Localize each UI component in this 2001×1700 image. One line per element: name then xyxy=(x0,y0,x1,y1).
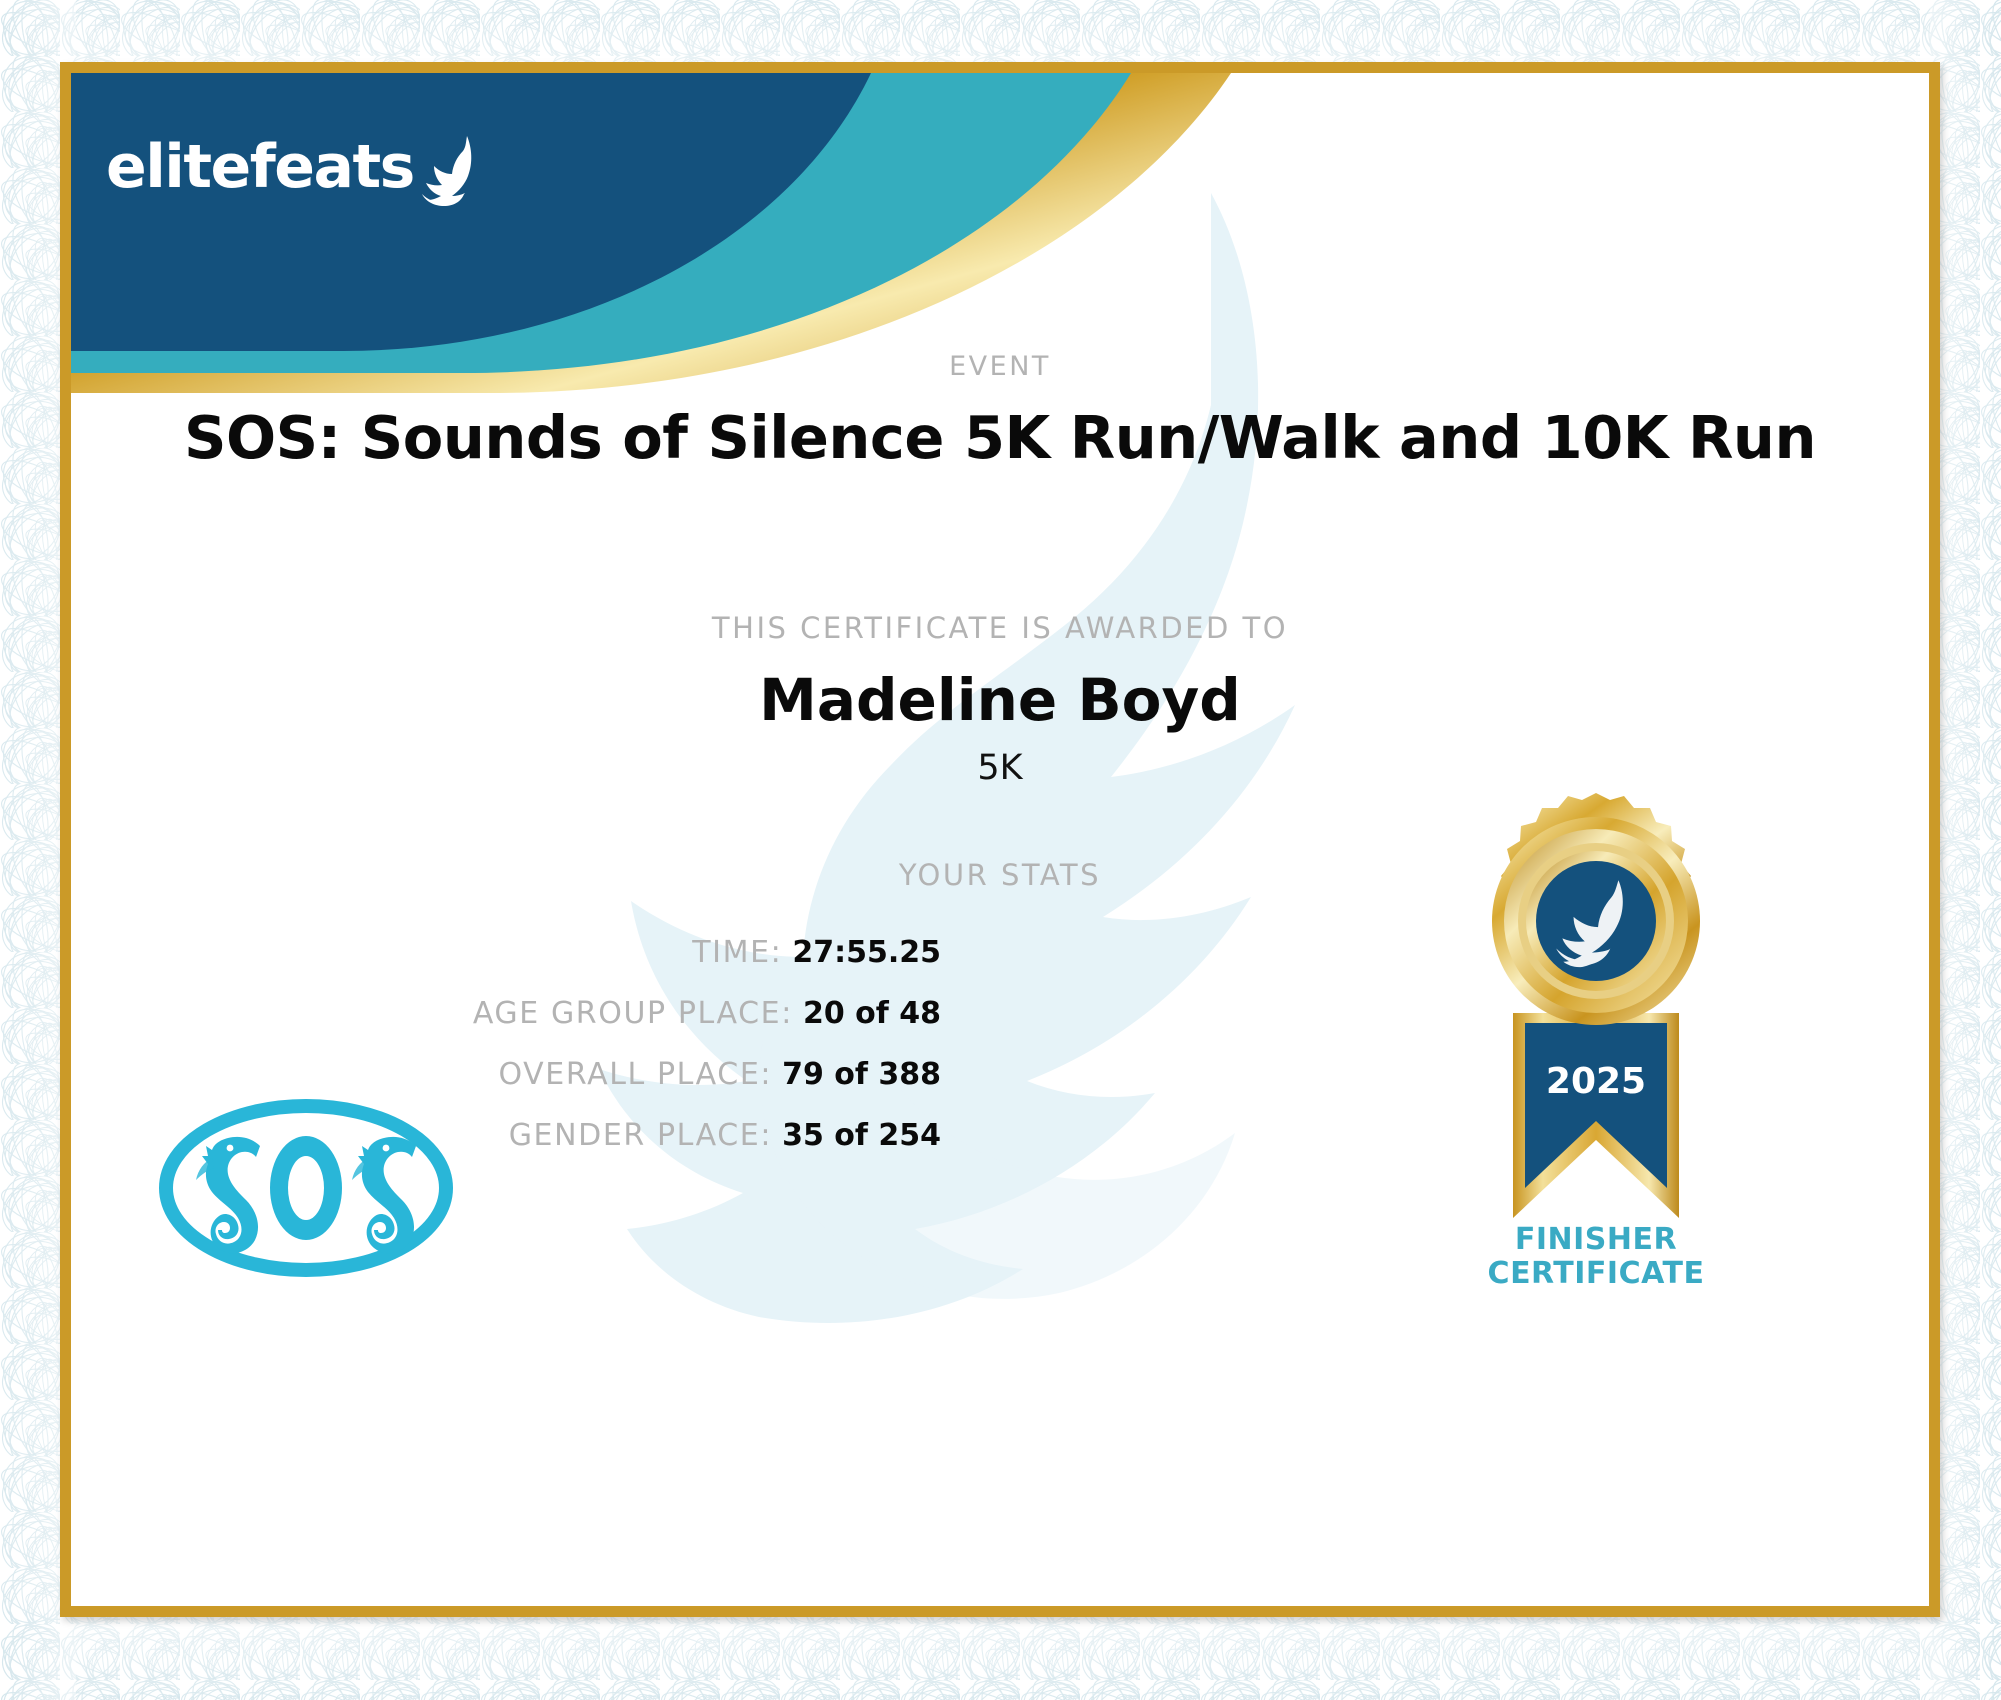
stat-key-age-group-place: AGE GROUP PLACE: xyxy=(473,996,793,1031)
certificate-page: elitefeats EVENT SOS: Sounds of Silence … xyxy=(0,0,2001,1700)
recipient-name: Madeline Boyd xyxy=(71,666,1929,734)
event-label: EVENT xyxy=(71,351,1929,382)
sos-seahorse-logo xyxy=(156,1098,456,1278)
stat-value-gender-place: 35 of 254 xyxy=(782,1118,941,1153)
stat-key-gender-place: GENDER PLACE: xyxy=(509,1118,772,1153)
stat-value-age-group-place: 20 of 48 xyxy=(803,996,941,1031)
winged-foot-icon xyxy=(420,134,490,206)
stat-row-overall-place: OVERALL PLACE: 79 of 388 xyxy=(71,1057,941,1092)
medal-caption-line1: FINISHER xyxy=(1416,1223,1776,1257)
elitefeats-logo: elitefeats xyxy=(106,128,490,206)
recipient-distance: 5K xyxy=(71,748,1929,788)
brand-wordmark: elitefeats xyxy=(106,132,414,202)
stat-value-overall-place: 79 of 388 xyxy=(782,1057,941,1092)
stat-key-time: TIME: xyxy=(692,935,782,970)
stat-key-overall-place: OVERALL PLACE: xyxy=(499,1057,773,1092)
stat-value-time: 27:55.25 xyxy=(792,935,941,970)
finisher-medal-badge: 2025 xyxy=(1451,788,1741,1268)
awarded-to-label: THIS CERTIFICATE IS AWARDED TO xyxy=(71,611,1929,645)
stat-row-time: TIME: 27:55.25 xyxy=(71,935,941,970)
medal-caption-line2: CERTIFICATE xyxy=(1416,1257,1776,1291)
stat-row-age-group-place: AGE GROUP PLACE: 20 of 48 xyxy=(71,996,941,1031)
header-swoosh-graphic xyxy=(71,73,1231,393)
gold-certificate-frame: elitefeats EVENT SOS: Sounds of Silence … xyxy=(60,62,1940,1617)
medal-caption: FINISHER CERTIFICATE xyxy=(1416,1223,1776,1290)
medal-year: 2025 xyxy=(1546,1061,1646,1102)
event-title: SOS: Sounds of Silence 5K Run/Walk and 1… xyxy=(71,403,1929,472)
